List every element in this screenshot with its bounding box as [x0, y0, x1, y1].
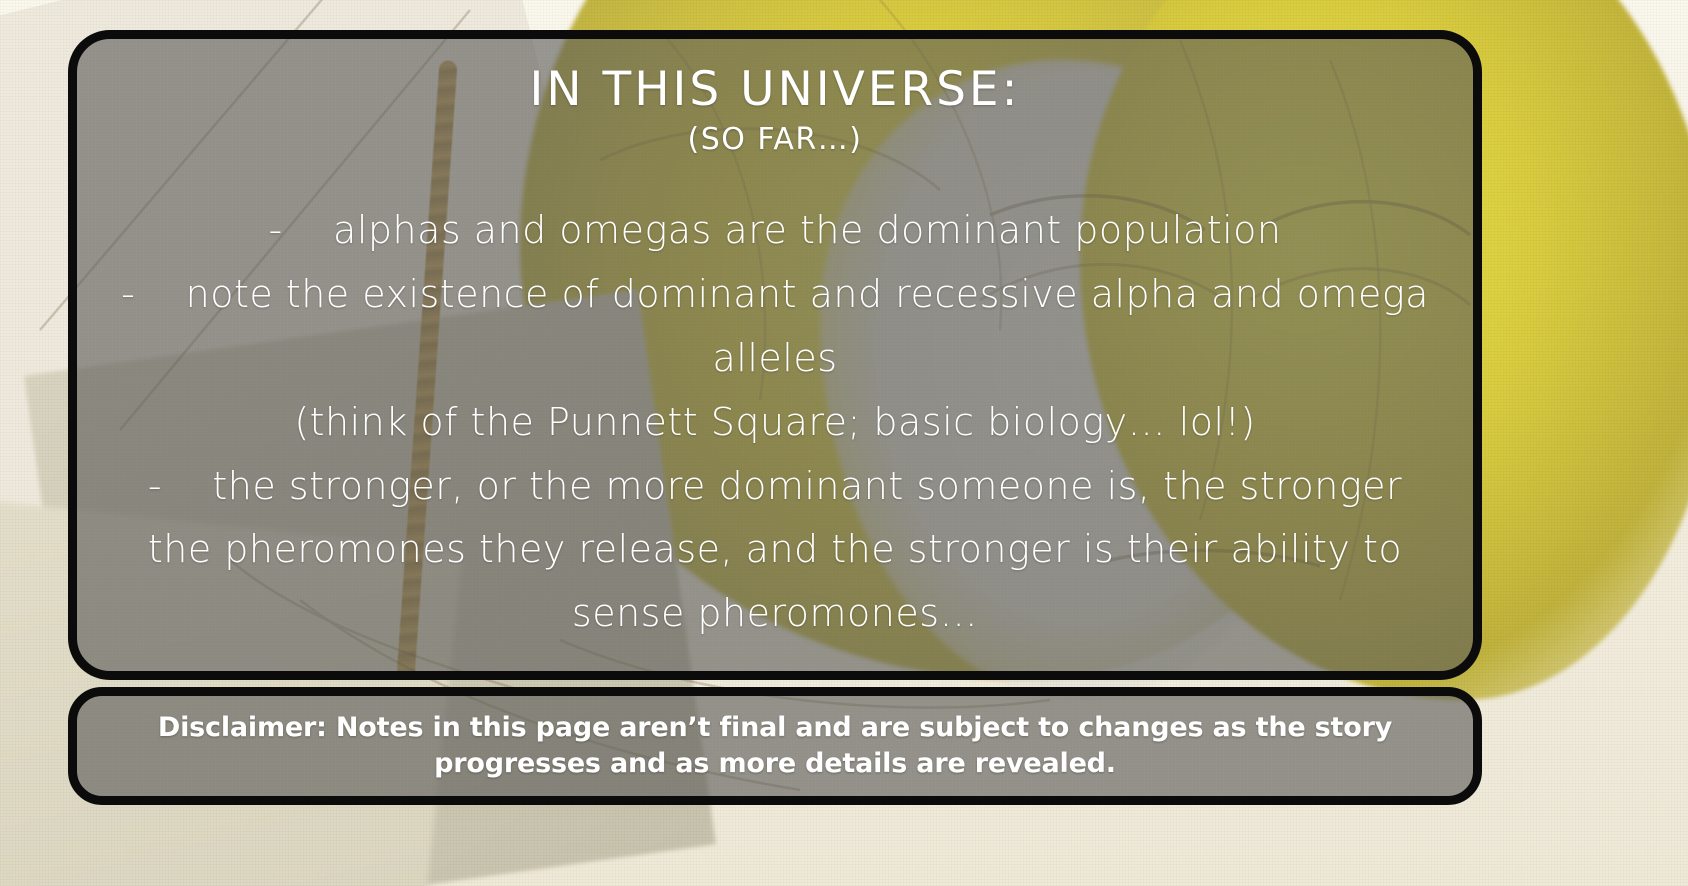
- panel-title: IN THIS UNIVERSE:: [530, 65, 1021, 114]
- note-item: - alphas and omegas are the dominant pop…: [117, 199, 1433, 263]
- note-item: - the stronger, or the more dominant som…: [117, 455, 1433, 646]
- disclaimer-text: Disclaimer: Notes in this page aren’t fi…: [130, 710, 1420, 781]
- disclaimer-panel: Disclaimer: Notes in this page aren’t fi…: [68, 687, 1482, 805]
- panel-subtitle: (SO FAR…): [688, 122, 863, 157]
- comic-page: IN THIS UNIVERSE: (SO FAR…) - alphas and…: [0, 0, 1688, 886]
- note-item: - note the existence of dominant and rec…: [117, 263, 1433, 454]
- notes-panel: IN THIS UNIVERSE: (SO FAR…) - alphas and…: [68, 30, 1482, 680]
- notes-bullet-list: - alphas and omegas are the dominant pop…: [117, 199, 1433, 646]
